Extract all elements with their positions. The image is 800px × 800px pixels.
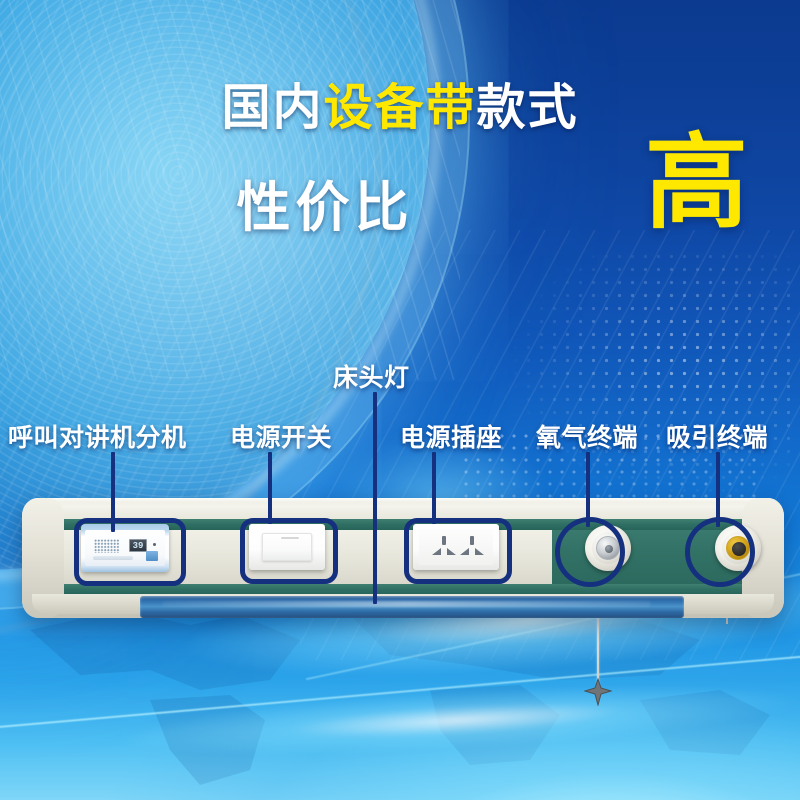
product-banner: 国内设备带款式 性价比 高 呼叫对讲机分机 电源开关 床头灯 电源插座 氧气终端… [0, 0, 800, 800]
headline-accent-char: 高 [645, 131, 748, 234]
headline-line1-part2: 款式 [477, 81, 579, 135]
highlight-circle-suction [685, 517, 755, 587]
highlight-box-power-socket [404, 518, 512, 584]
headline-line1-highlight: 设备带 [323, 81, 476, 135]
oxygen-hanging-cord [597, 614, 599, 686]
leader-line-power-socket [432, 452, 436, 524]
leader-line-suction [716, 452, 720, 527]
highlight-box-intercom [74, 518, 186, 586]
leader-line-power-switch [268, 452, 272, 524]
highlight-circle-oxygen [555, 517, 625, 587]
callout-label-bed-lamp: 床头灯 [333, 358, 410, 394]
headline-block: 国内设备带款式 性价比 高 [0, 84, 800, 241]
callout-label-power-switch: 电源开关 [230, 418, 332, 454]
headline-line1-part1: 国内 [221, 81, 323, 135]
callout-label-oxygen: 氧气终端 [536, 418, 638, 454]
leader-line-oxygen [586, 452, 590, 527]
leader-line-bed-lamp [373, 392, 377, 604]
highlight-box-power-switch [240, 518, 338, 584]
callout-label-power-socket: 电源插座 [400, 418, 502, 454]
leader-line-intercom [111, 452, 115, 532]
cord-hook-icon [584, 678, 612, 706]
headline-line-2: 性价比 高 [0, 159, 800, 241]
callout-label-intercom: 呼叫对讲机分机 [8, 418, 187, 454]
panel-gloss-band [140, 596, 684, 618]
callout-label-suction: 吸引终端 [666, 418, 768, 454]
